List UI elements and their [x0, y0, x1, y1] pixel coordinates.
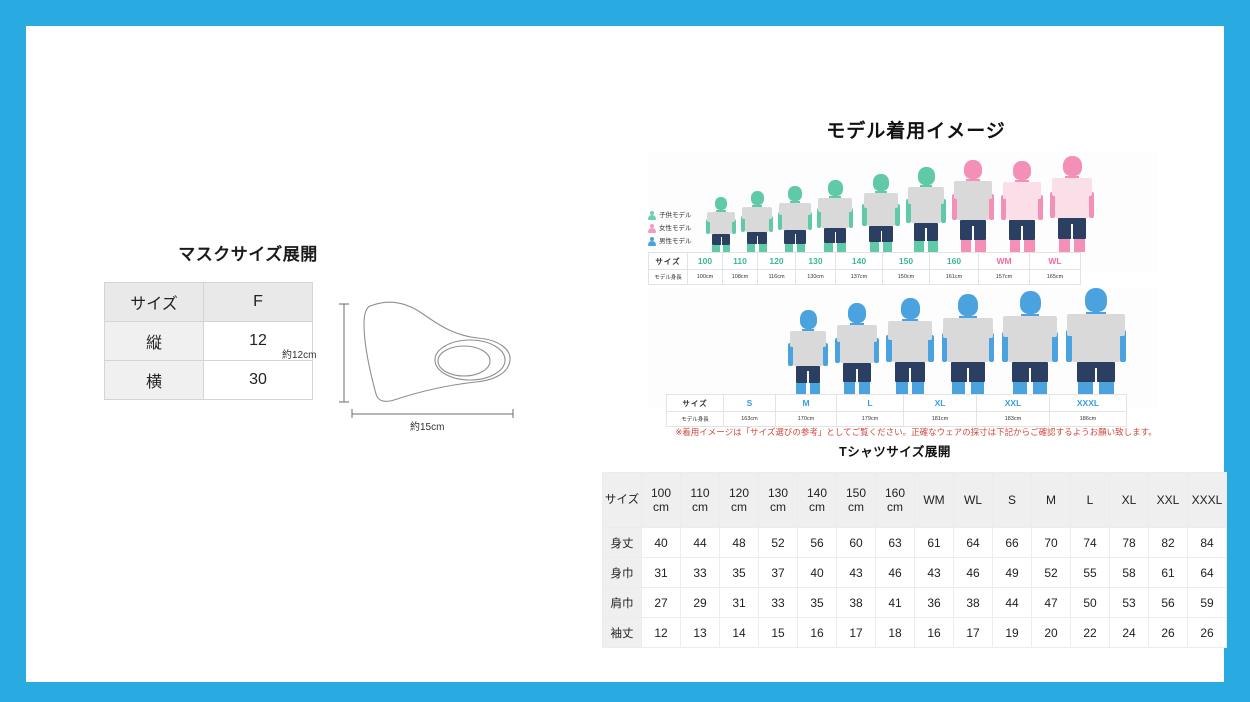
tshirt-cell-r1-c6: 46: [876, 558, 915, 588]
tshirt-section-title: Tシャツサイズ展開: [575, 441, 1215, 460]
model-size-table-2: サイズ S M L XL XXL XXXL モデル身長 163cm 170cm …: [666, 394, 1127, 427]
tshirt-cell-r1-c10: 52: [1032, 558, 1071, 588]
model-figures-row-2: [788, 289, 1127, 394]
size-cell-m: M: [776, 395, 837, 412]
size-row-label-2: サイズ: [667, 395, 724, 412]
tshirt-row-label-3: 袖丈: [603, 618, 642, 648]
tshirt-cell-r0-c8: 64: [954, 528, 993, 558]
man-model-icon: [648, 237, 656, 247]
mask-size-table-wrapper: サイズ F 縦 12 横 30: [104, 282, 313, 400]
tshirt-cell-r1-c12: 58: [1110, 558, 1149, 588]
legend-item-child: 子供モデル: [648, 210, 692, 221]
tshirt-cell-r3-c3: 15: [759, 618, 798, 648]
legend-label-woman: 女性モデル: [659, 223, 692, 234]
height-cell-l: 179cm: [837, 412, 904, 427]
tshirt-cell-r3-c13: 26: [1149, 618, 1188, 648]
table-row: 袖丈121314151617181617192022242626: [603, 618, 1227, 648]
height-cell-m: 170cm: [776, 412, 837, 427]
model-figure-100: [706, 197, 736, 252]
height-cell-xl: 181cm: [904, 412, 977, 427]
mask-height-label: 約12cm: [282, 346, 316, 361]
tshirt-cell-r3-c8: 17: [954, 618, 993, 648]
table-row: 横 30: [105, 361, 313, 400]
model-figure-xxl: [1001, 291, 1059, 394]
model-figures-row-1: [706, 152, 1094, 252]
tshirt-cell-r2-c4: 35: [798, 588, 837, 618]
model-size-table-1: サイズ 100 110 120 130 140 150 160 WM WL モデ…: [648, 252, 1081, 285]
size-cell-xxl: XXL: [977, 395, 1050, 412]
tshirt-cell-r1-c14: 64: [1188, 558, 1227, 588]
tshirt-cell-r3-c11: 22: [1071, 618, 1110, 648]
mask-header-f: F: [204, 283, 313, 322]
model-section-title: モデル着用イメージ: [626, 116, 1206, 143]
size-cell-s: S: [724, 395, 776, 412]
tshirt-cell-r3-c7: 16: [915, 618, 954, 648]
model-row-1: 子供モデル 女性モデル 男性モデル: [648, 152, 1158, 272]
tshirt-cell-r2-c10: 47: [1032, 588, 1071, 618]
tshirt-col-140: 140cm: [798, 473, 837, 528]
model-figure-150: [906, 167, 946, 252]
height-cell-wm: 157cm: [979, 270, 1030, 285]
legend-label-child: 子供モデル: [659, 210, 692, 221]
tshirt-cell-r0-c2: 48: [720, 528, 759, 558]
tshirt-cell-r1-c9: 49: [993, 558, 1032, 588]
mask-row-label-0: 縦: [105, 322, 204, 361]
tshirt-cell-r2-c0: 27: [642, 588, 681, 618]
tshirt-cell-r1-c7: 43: [915, 558, 954, 588]
size-cell-wl: WL: [1030, 253, 1081, 270]
tshirt-cell-r3-c6: 18: [876, 618, 915, 648]
tshirt-cell-r2-c5: 38: [837, 588, 876, 618]
model-figure-xxxl: [1065, 288, 1127, 394]
tshirt-col-xl: XL: [1110, 473, 1149, 528]
tshirt-cell-r3-c4: 16: [798, 618, 837, 648]
mask-row-value-1: 30: [204, 361, 313, 400]
size-cell-160: 160: [930, 253, 979, 270]
tshirt-col-160: 160cm: [876, 473, 915, 528]
model-figure-wm: [1001, 160, 1043, 252]
model-size-note: ※着用イメージは「サイズ選びの参考」としてご覧ください。正確なウェアの採寸は下記…: [626, 426, 1206, 438]
height-cell-s: 163cm: [724, 412, 776, 427]
child-model-icon: [648, 211, 656, 221]
woman-model-icon: [648, 224, 656, 234]
tshirt-cell-r2-c6: 41: [876, 588, 915, 618]
tshirt-col-xxxl: XXXL: [1188, 473, 1227, 528]
tshirt-cell-r0-c14: 84: [1188, 528, 1227, 558]
tshirt-cell-r0-c5: 60: [837, 528, 876, 558]
tshirt-col-110: 110cm: [681, 473, 720, 528]
tshirt-col-s: S: [993, 473, 1032, 528]
tshirt-cell-r2-c14: 59: [1188, 588, 1227, 618]
height-cell-wl: 165cm: [1030, 270, 1081, 285]
table-row: サイズ S M L XL XXL XXXL: [667, 395, 1127, 412]
model-legend: 子供モデル 女性モデル 男性モデル: [648, 210, 692, 249]
height-cell-160: 161cm: [930, 270, 979, 285]
tshirt-cell-r3-c10: 20: [1032, 618, 1071, 648]
model-figure-l: [886, 298, 934, 394]
height-cell-100: 100cm: [688, 270, 723, 285]
height-row-label-2: モデル身長: [667, 412, 724, 427]
tshirt-col-xxl: XXL: [1149, 473, 1188, 528]
model-figure-wl: [1050, 155, 1094, 252]
tshirt-cell-r0-c9: 66: [993, 528, 1032, 558]
height-cell-130: 130cm: [796, 270, 836, 285]
size-cell-120: 120: [758, 253, 796, 270]
size-cell-100: 100: [688, 253, 723, 270]
height-cell-xxl: 183cm: [977, 412, 1050, 427]
tshirt-row-label-1: 身巾: [603, 558, 642, 588]
tshirt-cell-r1-c3: 37: [759, 558, 798, 588]
table-row: サイズ F: [105, 283, 313, 322]
tshirt-row-label-0: 身丈: [603, 528, 642, 558]
mask-section-title: マスクサイズ展開: [98, 240, 398, 265]
tshirt-cell-r1-c13: 61: [1149, 558, 1188, 588]
tshirt-cell-r0-c6: 63: [876, 528, 915, 558]
tshirt-cell-r0-c12: 78: [1110, 528, 1149, 558]
legend-item-woman: 女性モデル: [648, 223, 692, 234]
height-cell-150: 150cm: [883, 270, 930, 285]
tshirt-cell-r0-c0: 40: [642, 528, 681, 558]
height-cell-120: 116cm: [758, 270, 796, 285]
tshirt-cell-r3-c14: 26: [1188, 618, 1227, 648]
tshirt-col-100: 100cm: [642, 473, 681, 528]
tshirt-cell-r0-c13: 82: [1149, 528, 1188, 558]
size-row-label-1: サイズ: [649, 253, 688, 270]
tshirt-row-label-2: 肩巾: [603, 588, 642, 618]
size-cell-110: 110: [723, 253, 758, 270]
tshirt-col-wl: WL: [954, 473, 993, 528]
tshirt-cell-r2-c1: 29: [681, 588, 720, 618]
mask-outline-path: [364, 302, 510, 401]
tshirt-cell-r1-c4: 40: [798, 558, 837, 588]
tshirt-cell-r2-c8: 38: [954, 588, 993, 618]
model-figure-110: [741, 191, 773, 252]
table-header-row: サイズ 100cm 110cm 120cm 130cm 140cm 150cm …: [603, 473, 1227, 528]
tshirt-col-120: 120cm: [720, 473, 759, 528]
table-row: モデル身長 100cm 108cm 116cm 130cm 137cm 150c…: [649, 270, 1081, 285]
table-row: 身丈404448525660636164667074788284: [603, 528, 1227, 558]
tshirt-col-m: M: [1032, 473, 1071, 528]
tshirt-cell-r2-c11: 50: [1071, 588, 1110, 618]
tshirt-cell-r0-c4: 56: [798, 528, 837, 558]
table-row: モデル身長 163cm 170cm 179cm 181cm 183cm 186c…: [667, 412, 1127, 427]
mask-shape-diagram: 約12cm 約15cm: [298, 288, 548, 418]
tshirt-cell-r2-c9: 44: [993, 588, 1032, 618]
table-row: 肩巾272931333538413638444750535659: [603, 588, 1227, 618]
model-figure-160: [952, 159, 994, 252]
size-cell-140: 140: [836, 253, 883, 270]
tshirt-cell-r0-c3: 52: [759, 528, 798, 558]
tshirt-cell-r0-c10: 70: [1032, 528, 1071, 558]
tshirt-cell-r0-c1: 44: [681, 528, 720, 558]
model-figure-130: [817, 180, 853, 252]
model-figure-m: [835, 303, 879, 394]
tshirt-cell-r2-c3: 33: [759, 588, 798, 618]
tshirt-cell-r0-c7: 61: [915, 528, 954, 558]
tshirt-cell-r1-c2: 35: [720, 558, 759, 588]
tshirt-cell-r2-c13: 56: [1149, 588, 1188, 618]
tshirt-cell-r2-c7: 36: [915, 588, 954, 618]
size-cell-xxxl: XXXL: [1050, 395, 1127, 412]
tshirt-cell-r3-c2: 14: [720, 618, 759, 648]
tshirt-cell-r2-c12: 53: [1110, 588, 1149, 618]
tshirt-cell-r1-c0: 31: [642, 558, 681, 588]
tshirt-cell-r3-c0: 12: [642, 618, 681, 648]
model-figure-140: [862, 174, 900, 252]
table-row: 身巾313335374043464346495255586164: [603, 558, 1227, 588]
height-row-label-1: モデル身長: [649, 270, 688, 285]
mask-row-label-1: 横: [105, 361, 204, 400]
tshirt-cell-r1-c5: 43: [837, 558, 876, 588]
tshirt-col-l: L: [1071, 473, 1110, 528]
size-cell-wm: WM: [979, 253, 1030, 270]
tshirt-table-body: 身丈404448525660636164667074788284身巾313335…: [603, 528, 1227, 648]
size-cell-xl: XL: [904, 395, 977, 412]
size-cell-150: 150: [883, 253, 930, 270]
tshirt-cell-r3-c9: 19: [993, 618, 1032, 648]
height-cell-xxxl: 186cm: [1050, 412, 1127, 427]
height-cell-110: 108cm: [723, 270, 758, 285]
model-row-2: サイズ S M L XL XXL XXXL モデル身長 163cm 170cm …: [648, 289, 1158, 409]
size-cell-130: 130: [796, 253, 836, 270]
mask-width-label: 約15cm: [410, 418, 444, 433]
mask-header-size: サイズ: [105, 283, 204, 322]
tshirt-cell-r3-c5: 17: [837, 618, 876, 648]
table-row: サイズ 100 110 120 130 140 150 160 WM WL: [649, 253, 1081, 270]
tshirt-cell-r0-c11: 74: [1071, 528, 1110, 558]
height-cell-140: 137cm: [836, 270, 883, 285]
page-canvas: マスクサイズ展開 サイズ F 縦 12 横 30: [26, 26, 1224, 682]
mask-size-section: マスクサイズ展開 サイズ F 縦 12 横 30: [80, 240, 560, 265]
tshirt-size-table: サイズ 100cm 110cm 120cm 130cm 140cm 150cm …: [602, 472, 1227, 648]
model-figure-xl: [941, 294, 995, 394]
tshirt-cell-r3-c12: 24: [1110, 618, 1149, 648]
legend-item-man: 男性モデル: [648, 236, 692, 247]
tshirt-cell-r1-c1: 33: [681, 558, 720, 588]
tshirt-cell-r2-c2: 31: [720, 588, 759, 618]
tshirt-cell-r1-c11: 55: [1071, 558, 1110, 588]
legend-label-man: 男性モデル: [659, 236, 692, 247]
tshirt-cell-r3-c1: 13: [681, 618, 720, 648]
model-figure-s: [788, 310, 828, 394]
tshirt-col-wm: WM: [915, 473, 954, 528]
size-cell-l: L: [837, 395, 904, 412]
tshirt-cell-r1-c8: 46: [954, 558, 993, 588]
mask-size-table: サイズ F 縦 12 横 30: [104, 282, 313, 400]
tshirt-corner-label: サイズ: [603, 473, 642, 528]
mask-diagram-svg: [298, 288, 548, 418]
model-figure-120: [778, 186, 812, 252]
tshirt-col-150: 150cm: [837, 473, 876, 528]
tshirt-col-130: 130cm: [759, 473, 798, 528]
